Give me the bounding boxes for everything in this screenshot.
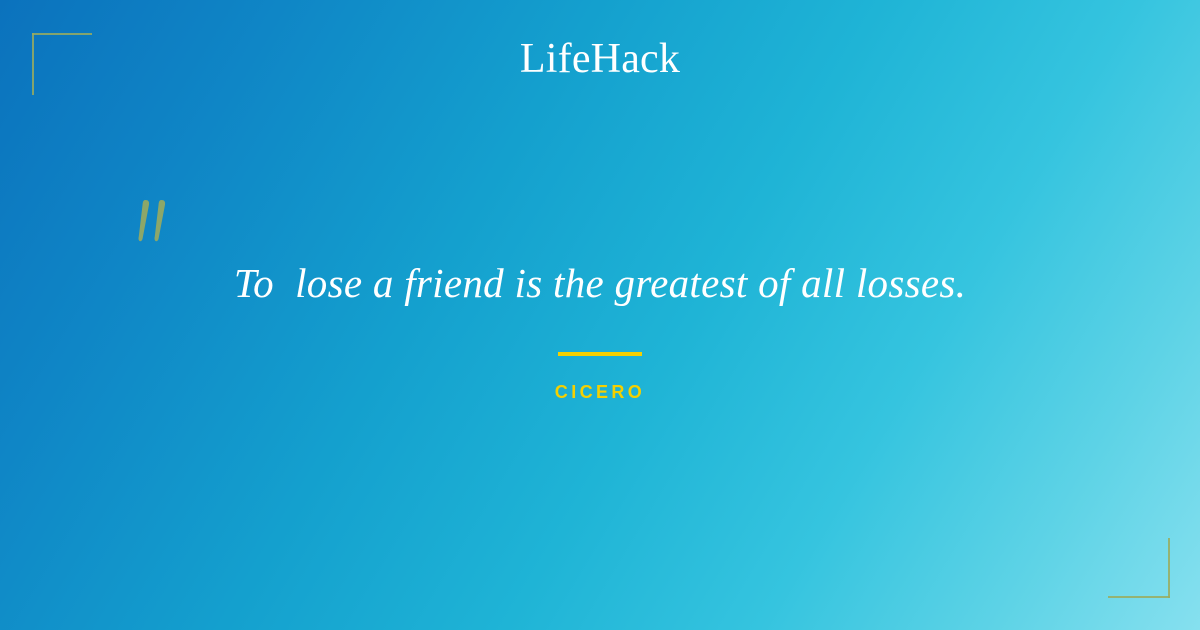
attribution-block: CICERO — [0, 352, 1200, 403]
corner-bracket-vertical-line — [1168, 538, 1170, 598]
quotation-mark-icon — [131, 198, 175, 246]
corner-bracket-icon-bottom-right — [1108, 538, 1170, 598]
attribution-divider — [558, 352, 642, 356]
quote-text: To lose a friend is the greatest of all … — [100, 258, 1100, 308]
corner-bracket-horizontal-line — [32, 33, 92, 35]
attribution-author: CICERO — [0, 382, 1200, 403]
brand-logo[interactable]: LifeHack — [0, 38, 1200, 80]
quote-block: To lose a friend is the greatest of all … — [0, 258, 1200, 308]
corner-bracket-horizontal-line — [1108, 596, 1170, 598]
quote-card: LifeHack To lose a friend is the greates… — [0, 0, 1200, 630]
